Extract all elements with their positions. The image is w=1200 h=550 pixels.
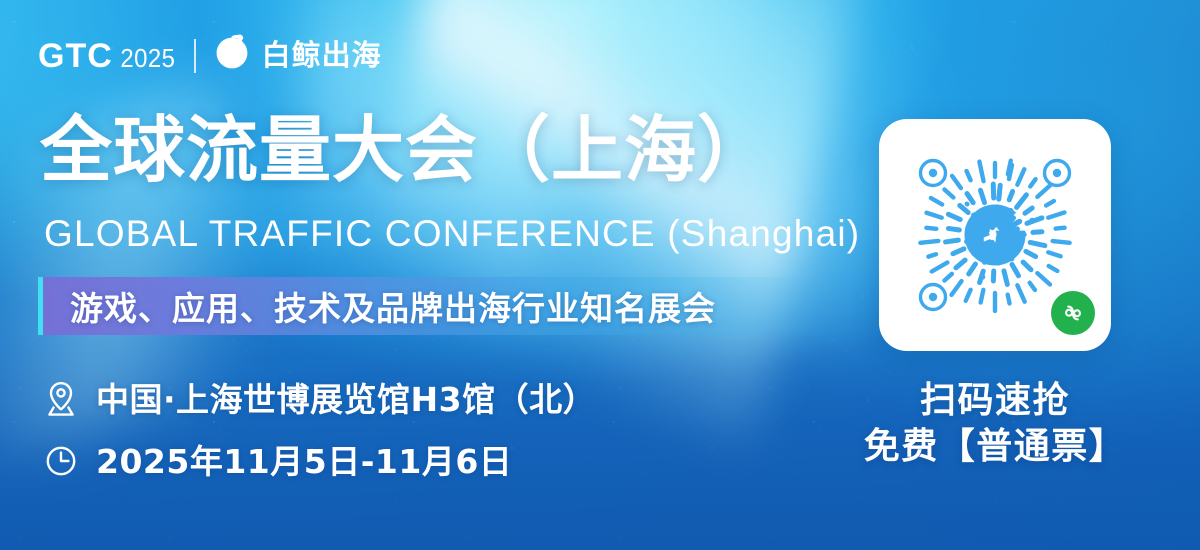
date-label: 2025年11月5日-11月6日	[96, 445, 512, 478]
wechat-miniprogram-badge-icon	[1051, 291, 1095, 335]
venue-label: 中国·上海世博展览馆H3馆（北）	[96, 383, 596, 416]
whale-g-circle-icon	[212, 33, 252, 78]
qr-cta-line-2: 免费【普通票】	[851, 424, 1139, 470]
location-pin-icon	[42, 378, 80, 420]
qr-cta-text: 扫码速抢 免费【普通票】	[851, 378, 1139, 470]
date-line: 2025年11月5日-11月6日	[42, 440, 512, 482]
qr-cta-line-1: 扫码速抢	[851, 378, 1139, 424]
clock-icon	[42, 440, 80, 482]
qr-code-image[interactable]	[879, 119, 1111, 351]
tagline-bar: 游戏、应用、技术及品牌出海行业知名展会	[38, 277, 838, 335]
gtc-logo: GTC 2025	[38, 39, 178, 73]
qr-finder-bottom-left	[921, 285, 946, 310]
qr-finder-top-right	[1045, 161, 1070, 186]
promo-banner: GTC 2025 白鲸出海 全球流量大会（上海） GLOBAL TRAFFIC …	[0, 0, 1200, 550]
qr-finder-top-left	[921, 161, 946, 186]
hero-title-en: GLOBAL TRAFFIC CONFERENCE (Shanghai)	[44, 215, 860, 252]
hero-title-cn: 全球流量大会（上海）	[40, 112, 770, 190]
tagline-label: 游戏、应用、技术及品牌出海行业知名展会	[70, 282, 716, 330]
gtc-logo-year: 2025	[120, 45, 175, 71]
brand-name-label: 白鲸出海	[262, 41, 382, 70]
logo-divider	[194, 39, 196, 73]
header-logo-row: GTC 2025 白鲸出海	[38, 33, 382, 78]
tagline-bar-accent-edge	[38, 277, 43, 335]
brand-logo: 白鲸出海	[212, 33, 382, 78]
qr-center-logo	[962, 202, 1028, 268]
gtc-logo-mark: GTC	[38, 39, 113, 73]
venue-line: 中国·上海世博展览馆H3馆（北）	[42, 378, 596, 420]
qr-code-card[interactable]	[879, 119, 1111, 351]
